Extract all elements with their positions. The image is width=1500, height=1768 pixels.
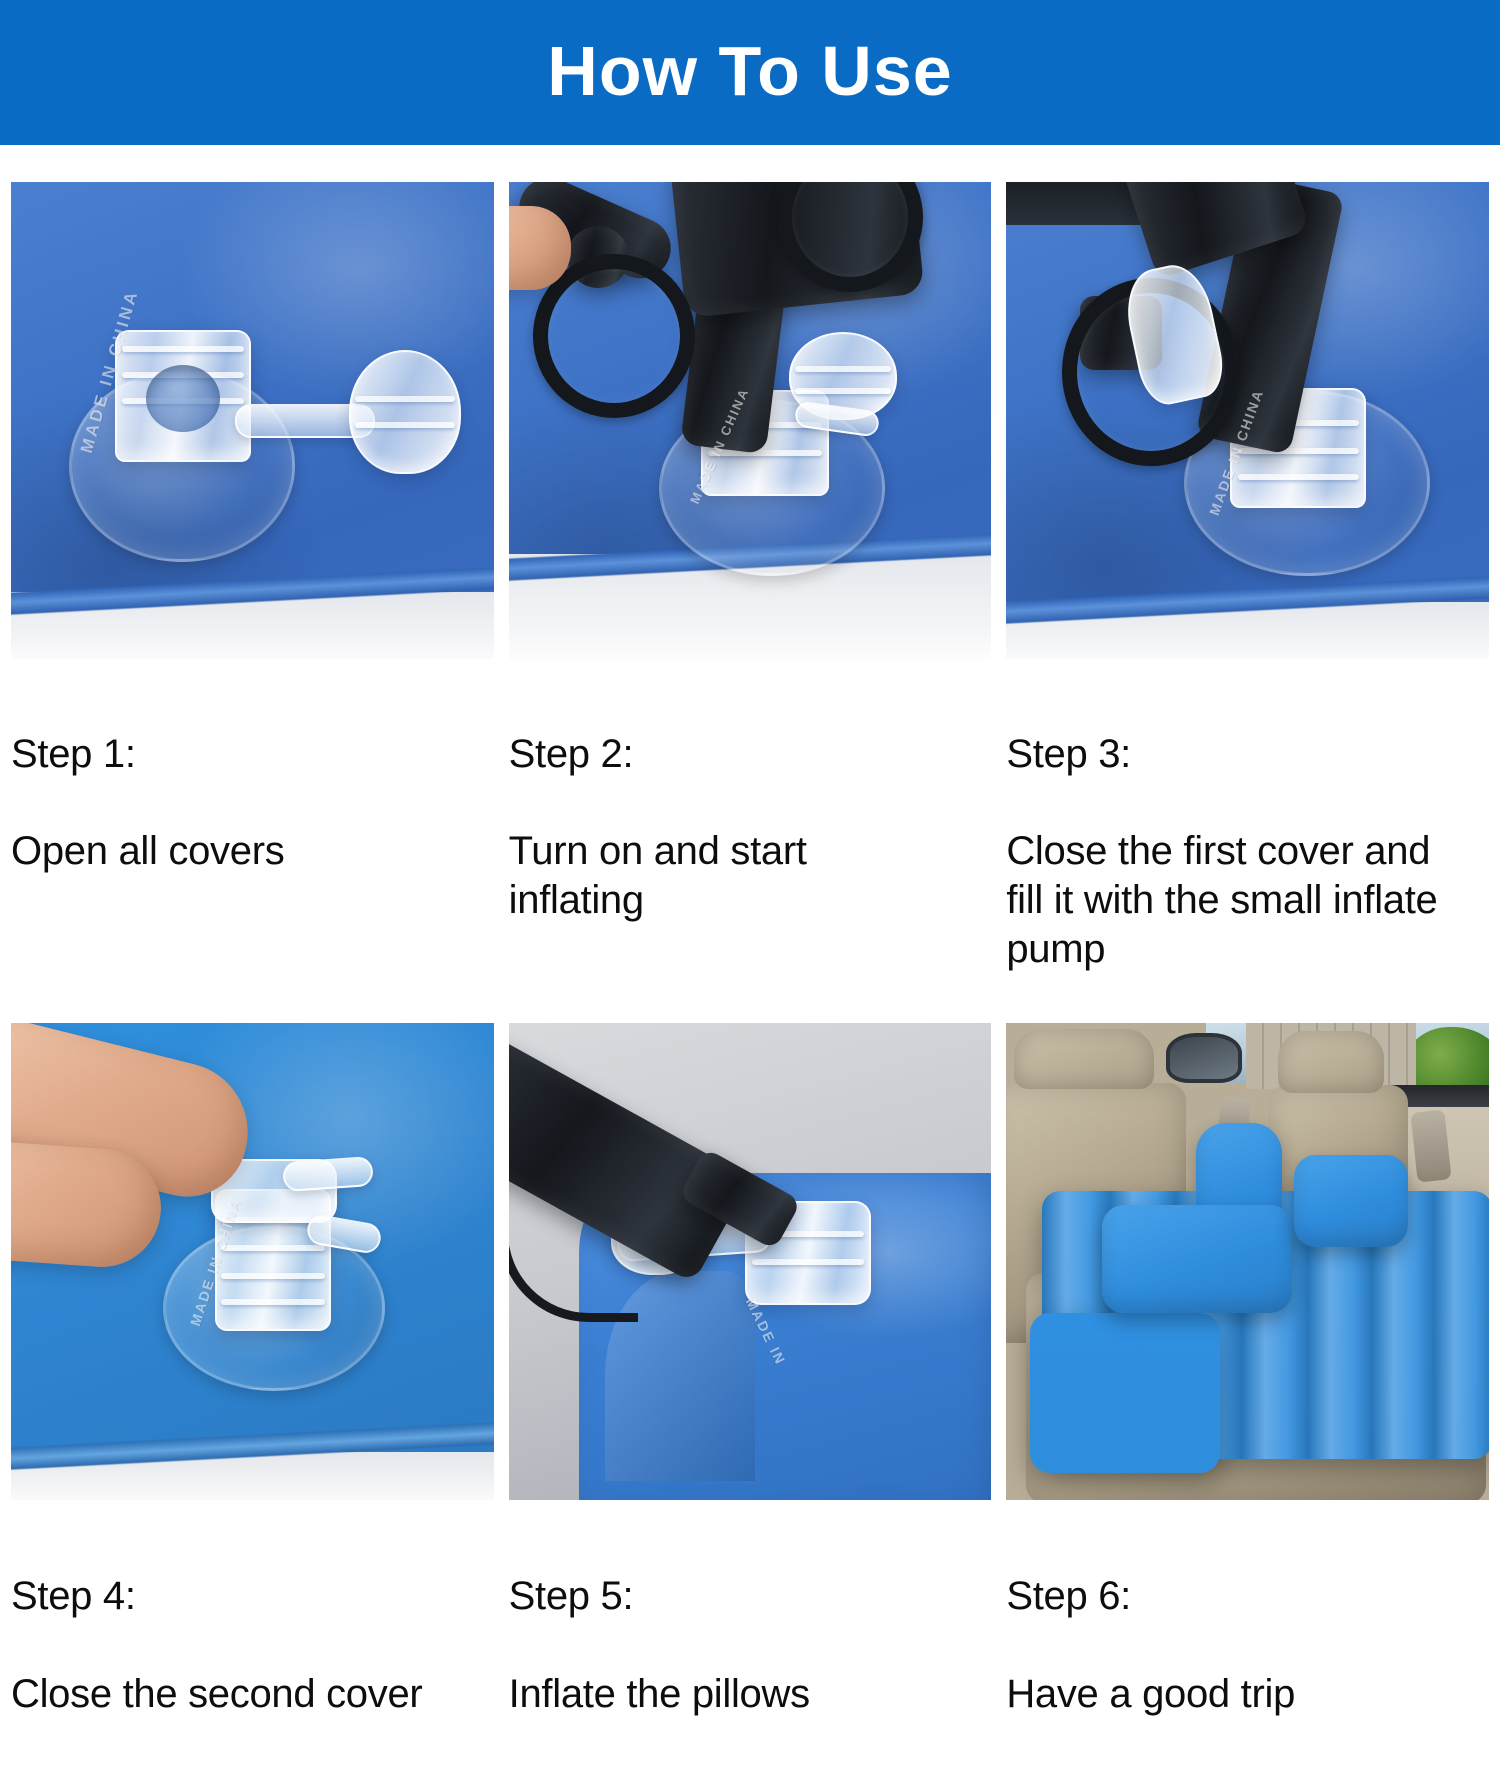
pillow-left [1102,1205,1292,1313]
step-card-4: MADE IN CHINA Step 4: Close the second c… [11,1023,494,1768]
step-2-body: Turn on and start inflating [509,827,992,925]
step-5-caption: Step 5: Inflate the pillows [509,1500,992,1768]
step-6-photo [1006,1023,1489,1500]
mattress-rib [1434,1191,1489,1459]
step-card-6: Step 6: Have a good trip [1006,1023,1489,1768]
step-2-caption: Step 2: Turn on and start inflating [509,659,992,974]
front-headrest-passenger [1278,1031,1384,1093]
front-headrest-driver [1014,1029,1154,1089]
side-mirror [1166,1033,1242,1083]
page-header: How To Use [0,0,1500,145]
cap-ridge [795,388,891,394]
valve-thread [221,1299,324,1305]
valve-opening [146,365,220,432]
step-card-5: MADE IN Step 5: Inflate the pillows [509,1023,992,1768]
step-3-caption: Step 3: Close the first cover and fill i… [1006,659,1489,1023]
car-interior-scene [1006,1023,1489,1500]
valve-thread [1238,474,1359,480]
valve-thread [752,1259,864,1265]
step-3-title: Step 3: [1006,730,1489,779]
step-6-title: Step 6: [1006,1572,1489,1621]
step-6-body: Have a good trip [1006,1670,1489,1719]
valve-cap-open [349,350,461,474]
step-card-3: MADE IN CHINA Step 3: Close the first co… [1006,182,1489,1023]
step-1-title: Step 1: [11,730,494,779]
step-1-body: Open all covers [11,827,494,876]
step-card-2: MADE IN CHINA Step 2: Turn on and start … [509,182,992,1023]
mattress-front-extension [1030,1313,1220,1473]
step-3-body: Close the first cover and fill it with t… [1006,827,1489,973]
step-card-1: MADE IN CHINA Step 1: Open all covers [11,182,494,1023]
valve-thread [1238,448,1359,454]
pillow-right [1294,1155,1408,1247]
step-4-body: Close the second cover [11,1670,494,1719]
step-5-title: Step 5: [509,1572,992,1621]
valve-thread [221,1273,324,1279]
step-4-photo: MADE IN CHINA [11,1023,494,1500]
step-3-photo: MADE IN CHINA [1006,182,1489,659]
page-title: How To Use [547,36,952,106]
step-5-body: Inflate the pillows [509,1670,992,1719]
step-1-caption: Step 1: Open all covers [11,659,494,925]
valve-thread [122,346,243,352]
step-2-photo: MADE IN CHINA [509,182,992,659]
open-valve-neck [115,330,251,462]
step-4-title: Step 4: [11,1572,494,1621]
step-6-caption: Step 6: Have a good trip [1006,1500,1489,1768]
cap-tab-top [282,1155,374,1191]
step-2-title: Step 2: [509,730,992,779]
step-1-photo: MADE IN CHINA [11,182,494,659]
steps-grid: MADE IN CHINA Step 1: Open all covers [0,145,1500,1768]
step-5-photo: MADE IN [509,1023,992,1500]
cap-ridge [355,396,454,402]
cap-ridge [795,366,891,372]
cap-ridge [355,422,454,428]
valve-thread [221,1245,324,1251]
step-4-caption: Step 4: Close the second cover [11,1500,494,1768]
